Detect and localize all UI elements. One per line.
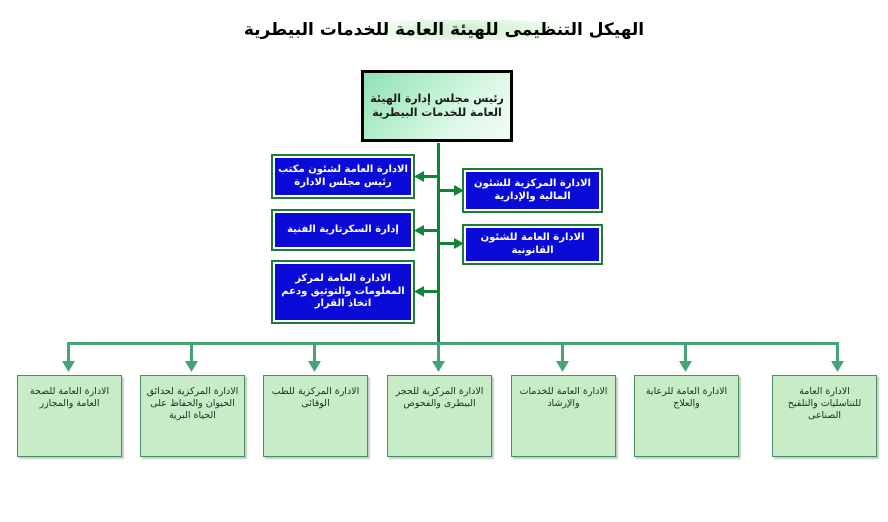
connector-drop-4	[437, 342, 440, 366]
connector-staff-right-1	[437, 189, 459, 192]
connector-staff-left-3	[420, 290, 440, 293]
connector-staff-right-2	[437, 242, 459, 245]
node-staff-right-1[interactable]: الادارة المركزية للشئون المالية والإداري…	[462, 168, 603, 213]
node-department-3[interactable]: الادارة المركزية للطب الوقائى	[263, 375, 368, 457]
node-root-label: رئيس مجلس إدارة الهيئة العامة للخدمات ال…	[370, 92, 504, 120]
connector-drop-5	[561, 342, 564, 366]
connector-drop-6	[684, 342, 687, 366]
node-department-2[interactable]: الادارة المركزية لحدائق الحيوان والحفاظ …	[140, 375, 245, 457]
node-department-7[interactable]: الادارة العامة للتناسليات والتلقيح الصنا…	[772, 375, 877, 457]
connector-drop-2	[190, 342, 193, 366]
node-department-1-label: الادارة العامة للصحة العامة والمجازر	[23, 386, 116, 410]
connector-staff-left-2	[420, 229, 440, 232]
node-department-1[interactable]: الادارة العامة للصحة العامة والمجازر	[17, 375, 122, 457]
node-staff-left-3-label: الادارة العامة لمركز المعلومات والتوثيق …	[278, 273, 408, 311]
org-chart-canvas: الهيكل التنظيمى للهيئة العامة للخدمات ال…	[0, 0, 888, 522]
node-staff-right-1-label: الادارة المركزية للشئون المالية والإداري…	[469, 178, 596, 204]
page-title: الهيكل التنظيمى للهيئة العامة للخدمات ال…	[0, 20, 888, 40]
connector-drop-3	[313, 342, 316, 366]
connector-drop-1	[67, 342, 70, 366]
node-department-2-label: الادارة المركزية لحدائق الحيوان والحفاظ …	[146, 386, 239, 422]
node-department-4[interactable]: الادارة المركزية للحجر البيطرى والفحوص	[387, 375, 492, 457]
node-staff-left-2[interactable]: إدارة السكرتارية الفنية	[271, 209, 415, 251]
node-staff-right-2[interactable]: الادارة العامة للشئون القانونية	[462, 224, 603, 265]
node-department-5-label: الادارة العامة للخدمات والإرشاد	[517, 386, 610, 410]
node-department-3-label: الادارة المركزية للطب الوقائى	[269, 386, 362, 410]
connector-staff-left-1	[420, 175, 440, 178]
node-staff-left-2-label: إدارة السكرتارية الفنية	[287, 224, 399, 237]
node-department-7-label: الادارة العامة للتناسليات والتلقيح الصنا…	[778, 386, 871, 422]
node-department-5[interactable]: الادارة العامة للخدمات والإرشاد	[511, 375, 616, 457]
node-department-6-label: الادارة العامة للرعاية والعلاج	[640, 386, 733, 410]
node-department-4-label: الادارة المركزية للحجر البيطرى والفحوص	[393, 386, 486, 410]
node-department-6[interactable]: الادارة العامة للرعاية والعلاج	[634, 375, 739, 457]
node-root[interactable]: رئيس مجلس إدارة الهيئة العامة للخدمات ال…	[361, 70, 513, 142]
node-staff-left-1[interactable]: الادارة العامة لشئون مكتب رئيس مجلس الاد…	[271, 154, 415, 199]
node-staff-right-2-label: الادارة العامة للشئون القانونية	[469, 232, 596, 258]
connector-distribution-bar	[68, 342, 839, 345]
connector-drop-7	[836, 342, 839, 366]
node-staff-left-3[interactable]: الادارة العامة لمركز المعلومات والتوثيق …	[271, 260, 415, 324]
node-staff-left-1-label: الادارة العامة لشئون مكتب رئيس مجلس الاد…	[278, 164, 408, 190]
